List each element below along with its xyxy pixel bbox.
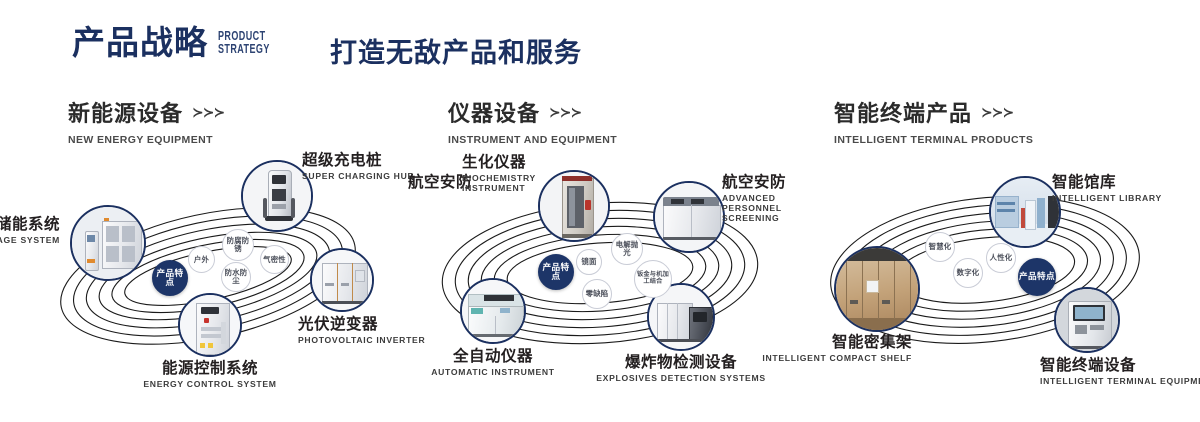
label-energy-storage-system: 储能系统 ENERGY STORAGE SYSTEM: [0, 216, 60, 246]
feature-bubble-electropolishing: 电解抛光: [611, 233, 643, 265]
node-label-en: EXPLOSIVES DETECTION SYSTEMS: [578, 374, 784, 384]
node-label-cn: 全自动仪器: [388, 348, 598, 365]
section-title-cn: 新能源设备: [68, 96, 183, 128]
node-label-en: SUPER CHARGING HUB: [302, 172, 414, 182]
page-title-en: PRODUCT STRATEGY: [218, 30, 270, 56]
page-slogan: 打造无敌产品和服务: [330, 31, 582, 70]
section-heading-intelligent-terminal: 智能终端产品 ≻≻≻ INTELLIGENT TERMINAL PRODUCTS: [834, 96, 1033, 146]
node-label-en: INTELLIGENT COMPACT SHELF: [742, 354, 912, 364]
node-label-cn: 智能馆库: [1052, 174, 1162, 191]
label-super-charging-hub: 超级充电桩 SUPER CHARGING HUB: [302, 152, 414, 182]
node-label-cn: 智能密集架: [742, 334, 912, 351]
cluster-intelligent-terminal: 智能馆库 INTELLIGENT LIBRARY 智能终端设备 INTELLIG…: [790, 148, 1200, 398]
node-photovoltaic-inverter[interactable]: [310, 248, 374, 312]
node-label-cn: 储能系统: [0, 216, 60, 233]
control-cabinet-art: [180, 295, 240, 355]
product-strategy-infographic: 产品战略 PRODUCT STRATEGY 打造无敌产品和服务 新能源设备 ≻≻…: [0, 0, 1200, 422]
feature-bubble-digital: 数字化: [953, 258, 983, 288]
label-intelligent-compact-shelf: 智能密集架 INTELLIGENT COMPACT SHELF: [742, 334, 912, 364]
node-label-cn: 生化仪器: [462, 154, 546, 171]
inverter-cabinet-art: [312, 250, 372, 310]
node-intelligent-compact-shelf[interactable]: [834, 246, 920, 332]
node-label-cn: 智能终端设备: [1040, 357, 1200, 374]
label-intelligent-library: 智能馆库 INTELLIGENT LIBRARY: [1052, 174, 1162, 204]
feature-bubble-zero-defect: 零缺陷: [582, 279, 612, 309]
core-bubble-product-features: 产品特点: [152, 260, 188, 296]
section-title-en: INTELLIGENT TERMINAL PRODUCTS: [834, 134, 1033, 146]
screening-machine-art: [655, 183, 723, 251]
node-advanced-personnel-screening[interactable]: [653, 181, 725, 253]
core-bubble-label: 产品特点: [1019, 272, 1055, 281]
section-title-en: INSTRUMENT AND EQUIPMENT: [448, 134, 617, 146]
feature-bubble-anticorrosion: 防腐防锈: [222, 229, 254, 261]
feature-bubble-mirror-finish: 镜面: [576, 249, 602, 275]
feature-bubble-airtightness: 气密性: [260, 245, 289, 274]
chevron-right-icon: ≻≻≻: [192, 104, 224, 121]
chevron-right-icon: ≻≻≻: [981, 104, 1013, 121]
section-heading-instrument: 仪器设备 ≻≻≻ INSTRUMENT AND EQUIPMENT: [448, 96, 617, 146]
node-label-cn: 能源控制系统: [85, 360, 335, 377]
library-room-art: [991, 178, 1059, 246]
section-title-en: NEW ENERGY EQUIPMENT: [68, 134, 224, 146]
page-header: 产品战略 PRODUCT STRATEGY: [72, 26, 290, 59]
feature-bubble-outdoor: 户外: [188, 246, 215, 273]
page-title-cn: 产品战略: [72, 26, 208, 59]
node-intelligent-terminal-equipment[interactable]: [1054, 287, 1120, 353]
page-title-en-line2: STRATEGY: [218, 43, 270, 56]
node-label-en: BIOCHEMISTRY INSTRUMENT: [462, 174, 546, 193]
node-label-en: AUTOMATIC INSTRUMENT: [388, 368, 598, 378]
chevron-right-icon: ≻≻≻: [549, 104, 581, 121]
label-intelligent-terminal-equipment: 智能终端设备 INTELLIGENT TERMINAL EQUIPMENT: [1040, 357, 1200, 387]
section-title-cn: 智能终端产品: [834, 96, 972, 128]
node-biochemistry-instrument[interactable]: [538, 170, 610, 242]
core-bubble-product-features: 产品特点: [538, 254, 574, 290]
node-automatic-instrument[interactable]: [460, 278, 526, 344]
section-title-cn: 仪器设备: [448, 96, 540, 128]
auto-analyzer-art: [462, 280, 524, 342]
label-automatic-instrument: 全自动仪器 AUTOMATIC INSTRUMENT: [388, 348, 598, 378]
kiosk-terminal-art: [1056, 289, 1118, 351]
node-energy-storage-system[interactable]: [70, 205, 146, 281]
node-energy-control-system[interactable]: [178, 293, 242, 357]
node-label-en: ENERGY CONTROL SYSTEM: [85, 380, 335, 390]
node-label-en: INTELLIGENT LIBRARY: [1052, 194, 1162, 204]
feature-bubble-humanized: 人性化: [986, 243, 1016, 273]
label-energy-control-system: 能源控制系统 ENERGY CONTROL SYSTEM: [85, 360, 335, 390]
feature-bubble-smart: 智慧化: [925, 232, 955, 262]
core-bubble-label: 产品特点: [539, 263, 573, 282]
node-label-cn: 超级充电桩: [302, 152, 414, 169]
energy-storage-cabinet-art: [72, 207, 144, 279]
core-bubble-label: 产品特点: [153, 269, 187, 288]
section-heading-new-energy: 新能源设备 ≻≻≻ NEW ENERGY EQUIPMENT: [68, 96, 224, 146]
security-scanner-art: [540, 172, 608, 240]
feature-bubble-sheetmetal-machining: 钣金与机加工结合: [634, 260, 672, 298]
node-intelligent-library[interactable]: [989, 176, 1061, 248]
feature-bubble-waterproof: 防水防尘: [221, 262, 251, 292]
node-label-en: ENERGY STORAGE SYSTEM: [0, 236, 60, 246]
charging-pile-art: [243, 162, 311, 230]
compact-shelf-art: [836, 248, 918, 330]
core-bubble-product-features: 产品特点: [1018, 258, 1056, 296]
label-biochemistry-instrument: 生化仪器 BIOCHEMISTRY INSTRUMENT: [462, 154, 546, 194]
node-label-en: INTELLIGENT TERMINAL EQUIPMENT: [1040, 377, 1200, 387]
cluster-new-energy: 储能系统 ENERGY STORAGE SYSTEM 超级充电桩 SUPER C…: [0, 148, 430, 398]
